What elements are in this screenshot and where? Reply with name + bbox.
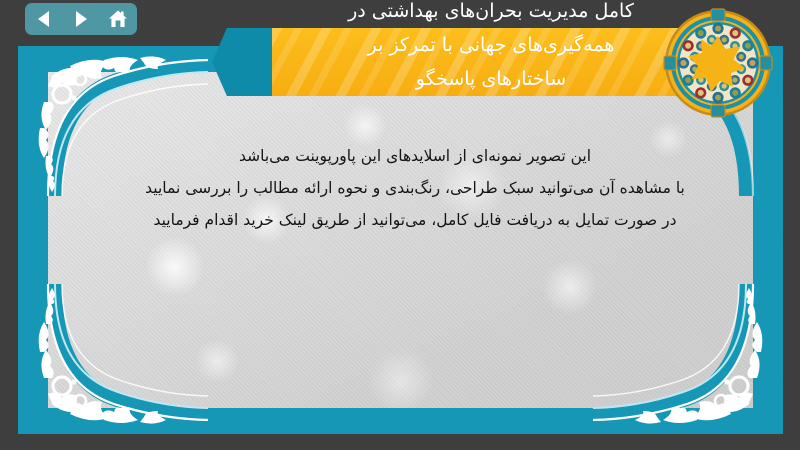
slide-nav-bar: [25, 3, 137, 35]
home-icon: [108, 9, 128, 29]
slide-content-panel: [48, 72, 753, 408]
slide-body-text: این تصویر نمونه‌ای از اسلایدهای این پاور…: [70, 140, 760, 236]
persian-medallion-icon: [663, 8, 773, 118]
previous-triangle-icon: [36, 10, 52, 28]
body-line-1: این تصویر نمونه‌ای از اسلایدهای این پاور…: [70, 140, 760, 172]
body-line-3: در صورت تمایل به دریافت فایل کامل، می‌تو…: [70, 204, 760, 236]
previous-slide-button[interactable]: [30, 7, 58, 31]
body-line-2: با مشاهده آن می‌توانید سبک طراحی، رنگ‌بن…: [70, 172, 760, 204]
slide-viewer: کامل مدیریت بحران‌های بهداشتی در همه‌گیر…: [0, 0, 800, 450]
home-button[interactable]: [104, 7, 132, 31]
next-triangle-icon: [73, 10, 89, 28]
next-slide-button[interactable]: [67, 7, 95, 31]
